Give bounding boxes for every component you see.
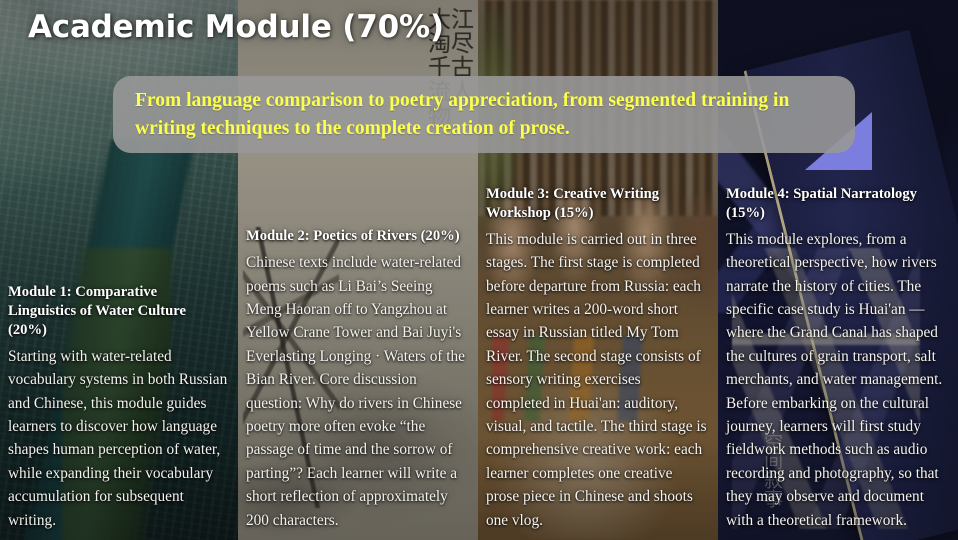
module-1-heading: Module 1: Comparative Linguistics of Wat… — [8, 283, 228, 340]
slide-root: 大江淘尽千古流人物 空间叙事 Academic Module (70%) — [0, 0, 958, 540]
module-4-heading: Module 4: Spatial Narratology (15%) — [726, 185, 948, 223]
callout-text: From language comparison to poetry appre… — [135, 87, 833, 142]
module-4-body: This module explores, from a theoretical… — [726, 228, 948, 532]
module-2-heading: Module 2: Poetics of Rivers (20%) — [246, 227, 468, 246]
module-2-body: Chinese texts include water-related poem… — [246, 251, 468, 532]
module-1-body: Starting with water-related vocabulary s… — [8, 345, 228, 532]
module-3-heading: Module 3: Creative Writing Workshop (15%… — [486, 185, 708, 223]
slide-title: Academic Module (70%) — [28, 8, 444, 47]
module-3-body: This module is carried out in three stag… — [486, 228, 708, 532]
callout-banner: From language comparison to poetry appre… — [113, 76, 855, 153]
